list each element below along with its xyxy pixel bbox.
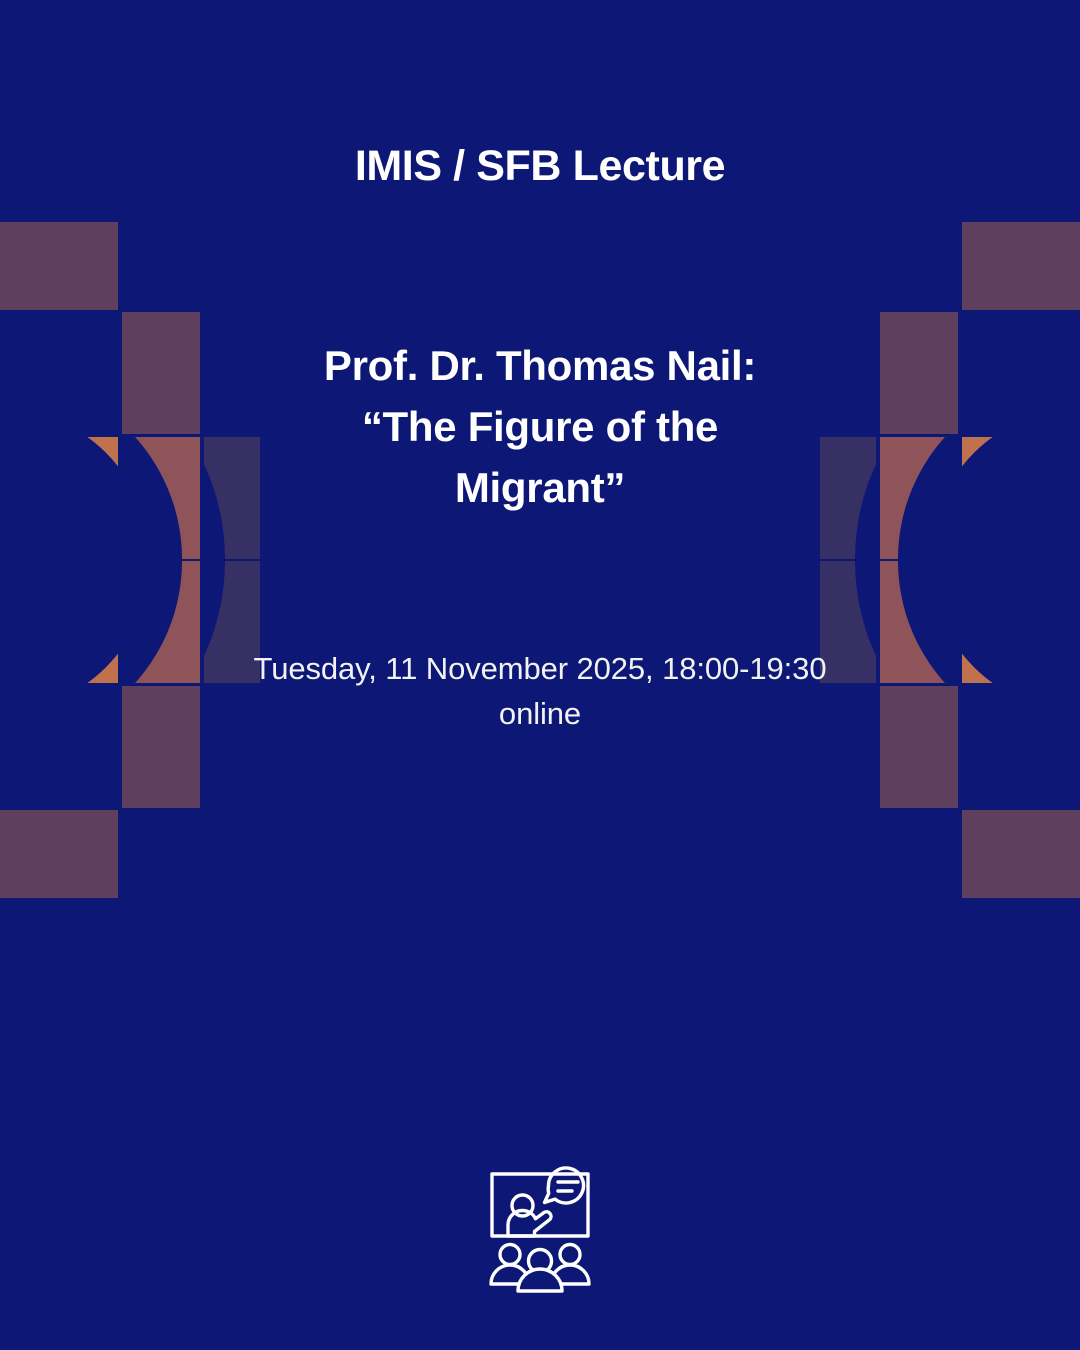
poster-canvas: IMIS / SFB Lecture Prof. Dr. Thomas Nail… bbox=[0, 0, 1080, 1350]
event-location: online bbox=[210, 692, 870, 737]
page-title: IMIS / SFB Lecture bbox=[355, 142, 725, 191]
lecture-headline: Prof. Dr. Thomas Nail: “The Figure of th… bbox=[280, 336, 800, 519]
event-datetime: Tuesday, 11 November 2025, 18:00-19:30 bbox=[254, 651, 827, 686]
headline-line-3: Migrant” bbox=[455, 464, 625, 511]
poster-content: IMIS / SFB Lecture Prof. Dr. Thomas Nail… bbox=[0, 0, 1080, 1350]
headline-line-1: Prof. Dr. Thomas Nail: bbox=[324, 342, 756, 389]
headline-line-2: “The Figure of the bbox=[362, 403, 718, 450]
event-details: Tuesday, 11 November 2025, 18:00-19:30 o… bbox=[210, 647, 870, 737]
